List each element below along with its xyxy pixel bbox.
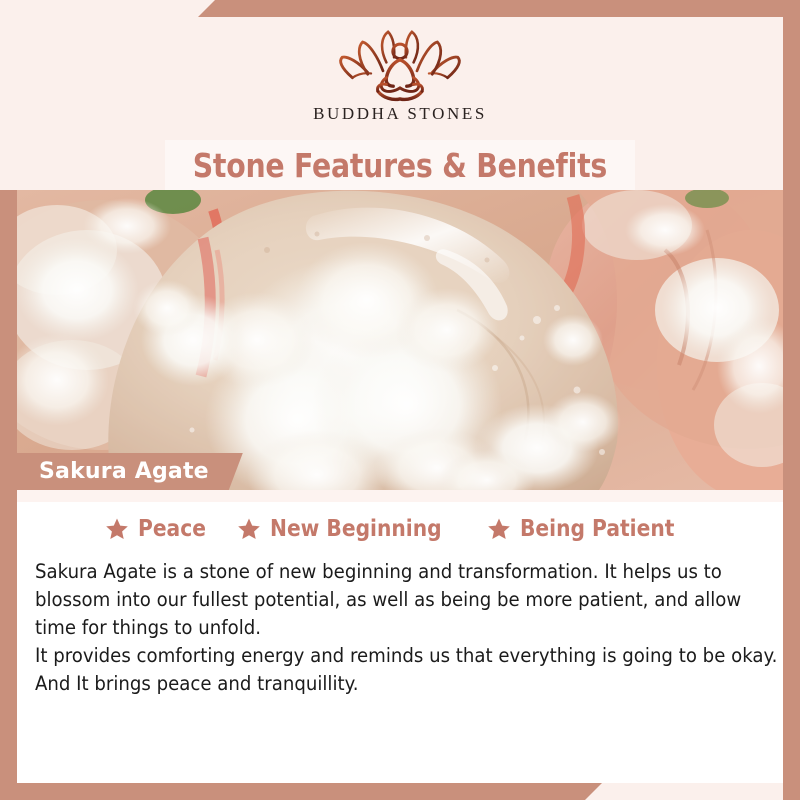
- description-block: Sakura Agate is a stone of new beginning…: [35, 558, 779, 697]
- feature-list: Peace New Beginning Being Patient: [17, 516, 783, 542]
- feature-label: Being Patient: [520, 516, 674, 542]
- card-top-strip: [17, 490, 783, 502]
- poster-root: BUDDHA STONES Stone Features & Benefits: [0, 0, 800, 800]
- description-paragraph-1: Sakura Agate is a stone of new beginning…: [35, 558, 779, 642]
- page-title: Stone Features & Benefits: [193, 146, 607, 185]
- frame-band-top: [0, 0, 800, 17]
- feature-label: Peace: [138, 516, 206, 542]
- content-card: Peace New Beginning Being Patient: [17, 490, 783, 783]
- frame-band-left: [0, 190, 17, 800]
- brand-header: BUDDHA STONES: [0, 17, 800, 140]
- feature-item: Being Patient: [487, 516, 695, 542]
- description-paragraph-2: It provides comforting energy and remind…: [35, 642, 779, 698]
- star-icon: [487, 517, 511, 541]
- brand-wordmark: BUDDHA STONES: [313, 104, 487, 124]
- frame-band-bottom: [0, 783, 800, 800]
- stone-name-label: Sakura Agate: [39, 459, 209, 484]
- title-banner: Stone Features & Benefits: [165, 140, 635, 190]
- stone-name-tag: Sakura Agate: [17, 453, 243, 490]
- feature-item: New Beginning: [237, 516, 465, 542]
- star-icon: [237, 517, 261, 541]
- star-icon: [105, 517, 129, 541]
- lotus-meditation-icon: [315, 25, 485, 103]
- feature-item: Peace: [105, 516, 215, 542]
- sakura-agate-stone-photo: [17, 190, 783, 490]
- feature-label: New Beginning: [270, 516, 442, 542]
